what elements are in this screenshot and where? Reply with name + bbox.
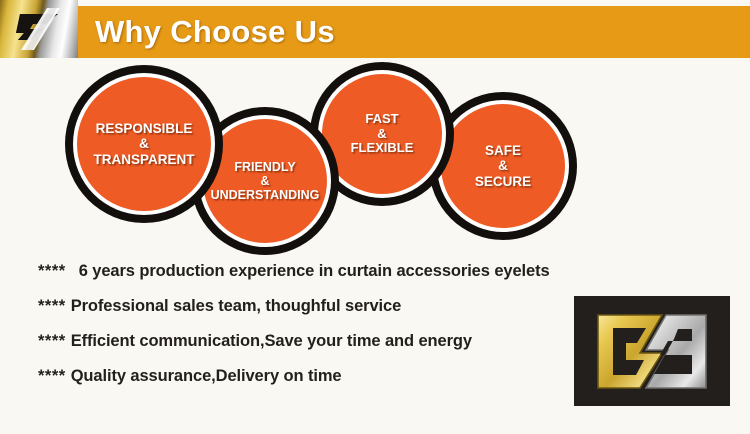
bullet-marker: **** [38,297,66,315]
circle-line-2: TRANSPARENT [94,152,195,167]
circle-line-1: FAST [351,112,414,127]
bullet-marker: **** [38,262,66,280]
circle-line-2: SECURE [475,174,531,189]
bullet-marker: **** [38,367,66,385]
value-circle-friendly-understanding: FRIENDLY & UNDERSTANDING [203,119,327,243]
header-logo-icon [0,0,78,58]
brand-logo-box [574,296,730,406]
bullet-text: Efficient communication,Save your time a… [71,332,472,350]
page-title: Why Choose Us [95,6,335,58]
bullet-item: ****6 years production experience in cur… [38,262,688,281]
bullet-text: Professional sales team, thoughful servi… [71,297,402,315]
circle-ampersand: & [94,136,195,151]
circle-ampersand: & [475,158,531,173]
circle-line-1: FRIENDLY [211,160,320,174]
value-circles-group: RESPONSIBLE & TRANSPARENT FRIENDLY & UND… [0,58,750,263]
circle-ampersand: & [351,127,414,142]
bullet-text: Quality assurance,Delivery on time [71,367,342,385]
value-circle-fast-flexible: FAST & FLEXIBLE [322,74,442,194]
circle-ampersand: & [211,174,320,188]
bolt-glyph-icon [596,313,708,390]
circle-line-1: RESPONSIBLE [94,121,195,136]
circle-line-2: UNDERSTANDING [211,188,320,202]
brand-logo-icon [596,313,708,390]
circle-line-2: FLEXIBLE [351,141,414,156]
value-circle-safe-secure: SAFE & SECURE [441,104,565,228]
bolt-glyph-icon [0,0,78,58]
bullet-text: 6 years production experience in curtain… [79,262,550,280]
circle-line-1: SAFE [475,143,531,158]
bullet-marker: **** [38,332,66,350]
value-circle-responsible-transparent: RESPONSIBLE & TRANSPARENT [77,77,211,211]
